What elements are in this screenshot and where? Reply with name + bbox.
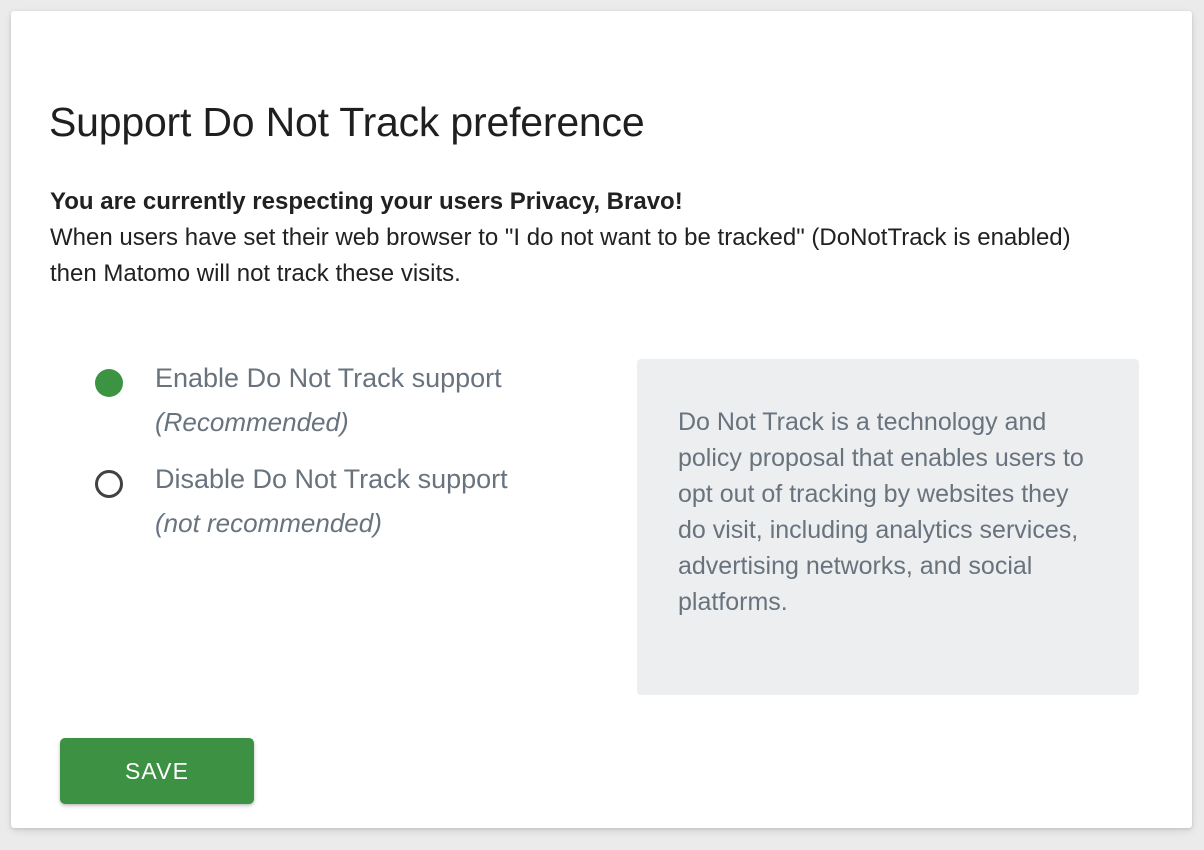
dnt-radio-group: Enable Do Not Track support (Recommended…: [86, 359, 616, 561]
radio-unchecked-icon[interactable]: [95, 470, 123, 498]
radio-option-enable-label: Enable Do Not Track support: [155, 359, 616, 397]
intro-lead: You are currently respecting your users …: [50, 184, 1120, 220]
info-box: Do Not Track is a technology and policy …: [637, 359, 1139, 695]
radio-option-disable[interactable]: Disable Do Not Track support (not recomm…: [86, 460, 616, 542]
intro-body: When users have set their web browser to…: [50, 220, 1120, 292]
page-title: Support Do Not Track preference: [49, 98, 644, 147]
radio-option-enable[interactable]: Enable Do Not Track support (Recommended…: [86, 359, 616, 441]
radio-option-disable-sublabel: (not recommended): [155, 504, 616, 542]
intro-text: You are currently respecting your users …: [50, 184, 1120, 292]
settings-card: Support Do Not Track preference You are …: [11, 11, 1192, 828]
radio-option-enable-sublabel: (Recommended): [155, 403, 616, 441]
info-box-text: Do Not Track is a technology and policy …: [678, 404, 1098, 620]
save-button[interactable]: Save: [60, 738, 254, 804]
radio-option-disable-label: Disable Do Not Track support: [155, 460, 616, 498]
radio-checked-icon[interactable]: [95, 369, 123, 397]
